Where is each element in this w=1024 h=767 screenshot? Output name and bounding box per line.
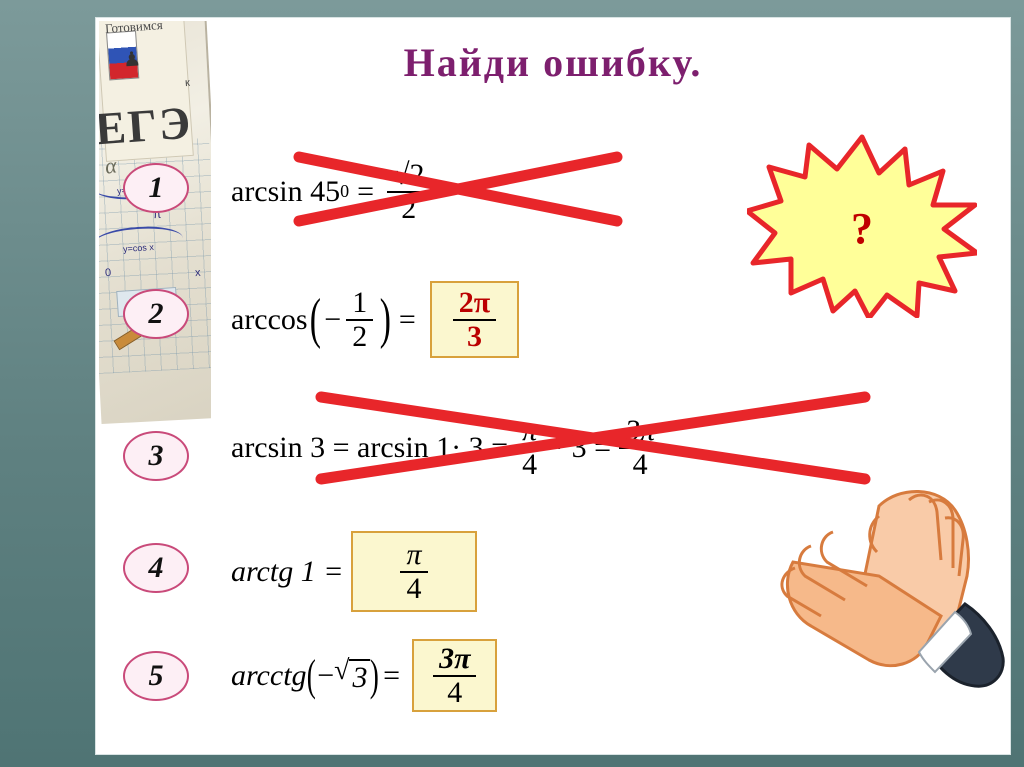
equation-5-sqrt: √ 3 (334, 657, 370, 695)
equation-1-lhs: arcsin 45 (231, 175, 340, 209)
equation-2-answer-box: 2π 3 (430, 281, 519, 358)
page-title: Найди ошибку. (99, 39, 1007, 86)
equation-3-mid-fraction: π 4 (516, 415, 543, 480)
axis-label-x: x (195, 267, 201, 279)
equation-2-lhs: arccos (231, 303, 308, 337)
slide-canvas: y=sin x y=cos x π 0 x ♟ Готовимся к ЕГЭ … (0, 0, 1024, 767)
equation-3-numerator: 3π (619, 415, 661, 449)
equation-expression-2: arccos ( − 1 2 ) = 2π 3 (231, 281, 519, 358)
equation-row-2: 2 arccos ( − 1 2 ) = 2π 3 (113, 289, 1003, 369)
equation-5-denominator: 4 (441, 677, 468, 709)
curve-label-cos: y=cos x (123, 242, 154, 254)
equation-3-denominator: 4 (627, 449, 654, 481)
equation-1-rhs-fraction: √2 2 (387, 159, 430, 224)
equation-2-sign: − (324, 303, 341, 337)
equation-expression-4: arctg 1 = π 4 (231, 531, 477, 612)
item-number-badge-4: 4 (123, 543, 189, 593)
equation-row-1: 1 arcsin 450 = √2 2 (113, 163, 1003, 243)
clapping-hands-icon (759, 476, 1009, 706)
slide-page: y=sin x y=cos x π 0 x ♟ Готовимся к ЕГЭ … (96, 18, 1010, 754)
equation-5-rhs-fraction: 3π 4 (433, 643, 476, 708)
equation-5-answer-box: 3π 4 (412, 639, 497, 712)
equation-1-degree: 0 (340, 181, 349, 202)
right-paren-5: ) (370, 660, 379, 692)
equation-3-mid-denominator: 4 (516, 449, 543, 481)
item-number-badge-1: 1 (123, 163, 189, 213)
equation-2-arg-fraction: 1 2 (346, 287, 373, 352)
item-number-badge-5: 5 (123, 651, 189, 701)
right-paren-2: ) (380, 299, 391, 339)
left-paren-2: ( (309, 299, 320, 339)
radical-icon: √ (334, 657, 349, 685)
equation-1-equals: = (357, 175, 374, 209)
book-title-ege: ЕГЭ (99, 96, 194, 156)
item-number-badge-3: 3 (123, 431, 189, 481)
clapping-hands-illustration (759, 476, 1009, 706)
equation-4-answer-box: π 4 (351, 531, 476, 612)
equation-2-numerator: 2π (453, 287, 496, 321)
equation-1-numerator: √2 (387, 159, 430, 193)
equation-3-lhs: arcsin 3 = arcsin 1· 3 = (231, 431, 508, 465)
equation-1-denominator: 2 (395, 193, 422, 225)
left-paren-5: ( (306, 660, 315, 692)
equation-5-lhs: arcctg (231, 659, 307, 693)
equation-expression-3: arcsin 3 = arcsin 1· 3 = π 4 · 3 = 3π 4 (231, 415, 666, 480)
equation-3-mid-numerator: π (516, 415, 543, 449)
item-number-badge-2: 2 (123, 289, 189, 339)
equation-3-multiplier: · 3 = (554, 431, 611, 465)
equation-5-equals: = (383, 659, 400, 693)
equation-5-numerator: 3π (433, 643, 476, 677)
axis-label-zero: 0 (105, 267, 112, 279)
equation-5-radicand: 3 (349, 659, 370, 695)
equation-2-denominator: 3 (461, 321, 488, 353)
equation-2-equals: = (399, 303, 416, 337)
equation-2-rhs-fraction: 2π 3 (453, 287, 496, 352)
equation-4-denominator: 4 (400, 573, 427, 605)
equation-3-rhs-fraction: 3π 4 (619, 415, 661, 480)
equation-2-arg-denominator: 2 (346, 321, 373, 353)
equation-4-numerator: π (400, 539, 427, 573)
equation-4-rhs-fraction: π 4 (400, 539, 427, 604)
equation-4-lhs: arctg 1 = (231, 555, 343, 589)
equation-expression-1: arcsin 450 = √2 2 (231, 159, 436, 224)
equation-2-arg-numerator: 1 (346, 287, 373, 321)
equation-expression-5: arcctg ( − √ 3 ) = 3π 4 (231, 639, 497, 712)
equation-5-sign: − (317, 659, 334, 693)
